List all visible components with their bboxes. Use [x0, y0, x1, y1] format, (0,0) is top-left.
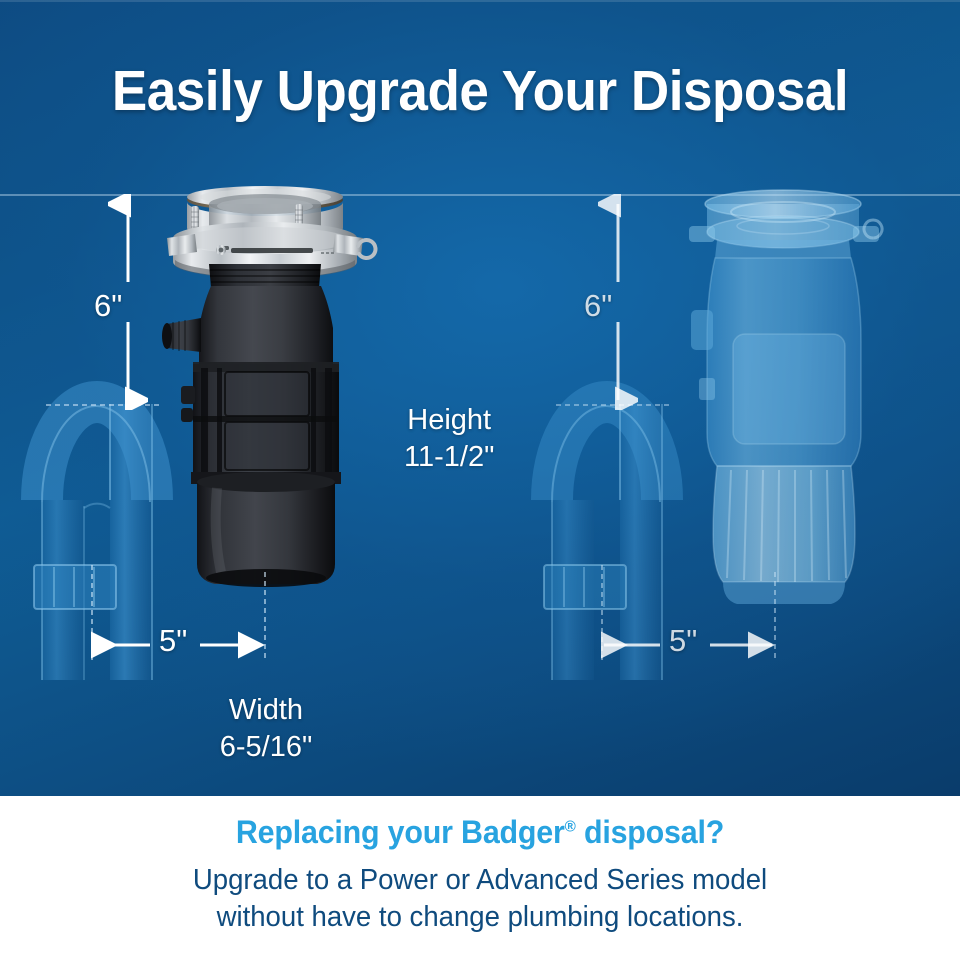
- dim-label-height-6in-left: 6": [94, 288, 122, 324]
- page-title: Easily Upgrade Your Disposal: [34, 58, 927, 124]
- dim-label-width-5in-left: 5": [159, 623, 187, 659]
- callout-height: Height 11-1/2": [404, 402, 494, 476]
- bottom-subtext-line-1: Upgrade to a Power or Advanced Series mo…: [24, 863, 936, 898]
- callout-height-label: Height: [404, 402, 494, 439]
- callout-width-label: Width: [196, 692, 336, 729]
- callout-height-value: 11-1/2": [404, 439, 494, 476]
- dim-label-height-6in-right: 6": [584, 288, 612, 324]
- blue-background-panel: 6" 6": [0, 0, 960, 796]
- bottom-headline-after: disposal?: [576, 814, 724, 850]
- callout-width: Width 6-5/16": [196, 692, 336, 766]
- registered-trademark-icon: ®: [565, 818, 576, 835]
- bottom-headline-before: Replacing your Badger: [236, 814, 565, 850]
- dim-label-width-5in-right: 5": [669, 623, 697, 659]
- bottom-subtext-line-2: without have to change plumbing location…: [24, 900, 936, 935]
- infographic-page: 6" 6": [0, 0, 960, 960]
- bottom-message-band: Replacing your Badger® disposal? Upgrade…: [0, 796, 960, 960]
- callout-width-value: 6-5/16": [196, 729, 336, 766]
- bottom-headline: Replacing your Badger® disposal?: [24, 796, 936, 851]
